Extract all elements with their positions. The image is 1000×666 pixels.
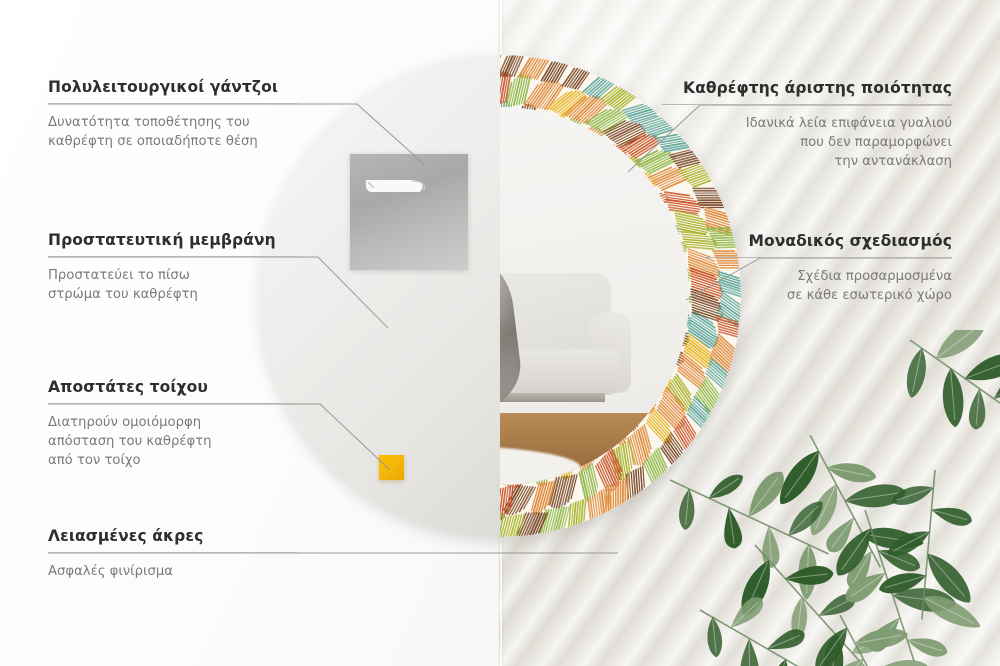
- eucalyptus-foliage: [660, 330, 1000, 666]
- callout-hooks-rule: [48, 103, 298, 104]
- wall-spacer-block: [379, 455, 404, 480]
- callout-unique-design: Μοναδικός σχεδιασμός Σχέδια προσαρμοσμέν…: [702, 232, 952, 305]
- callout-spacers: Αποστάτες τοίχου Διατηρούν ομοιόμορφη απ…: [48, 378, 298, 470]
- callout-unique-design-desc: Σχέδια προσαρμοσμένα σε κάθε εσωτερικό χ…: [702, 267, 952, 305]
- callout-quality-mirror: Καθρέφτης άριστης ποιότητας Ιδανικά λεία…: [662, 79, 952, 171]
- infographic-canvas: Πολυλειτουργικοί γάντζοι Δυνατότητα τοπο…: [0, 0, 1000, 666]
- callout-spacers-title: Αποστάτες τοίχου: [48, 378, 298, 396]
- callout-membrane-rule: [48, 256, 298, 257]
- callout-membrane-desc: Προστατεύει το πίσω στρώμα του καθρέφτη: [48, 266, 298, 304]
- callout-membrane: Προστατευτική μεμβράνη Προστατεύει το πί…: [48, 231, 298, 304]
- callout-hooks: Πολυλειτουργικοί γάντζοι Δυνατότητα τοπο…: [48, 78, 298, 151]
- hook-icon: [364, 176, 440, 198]
- sofa-base: [500, 393, 605, 402]
- callout-membrane-title: Προστατευτική μεμβράνη: [48, 231, 298, 249]
- callout-edges-title: Λειασμένες άκρες: [48, 527, 298, 545]
- callout-edges-rule: [48, 552, 298, 553]
- callout-edges-desc: Ασφαλές φινίρισμα: [48, 562, 298, 581]
- callout-hooks-desc: Δυνατότητα τοποθέτησης του καθρέφτη σε ο…: [48, 113, 298, 151]
- reflected-sofa: [500, 273, 631, 423]
- callout-unique-design-title: Μοναδικός σχεδιασμός: [702, 232, 952, 250]
- callout-spacers-rule: [48, 403, 298, 404]
- callout-edges: Λειασμένες άκρες Ασφαλές φινίρισμα: [48, 527, 298, 581]
- callout-quality-mirror-rule: [662, 104, 952, 105]
- callout-unique-design-rule: [702, 257, 952, 258]
- hook-mounting-plate: [350, 154, 468, 270]
- callout-spacers-desc: Διατηρούν ομοιόμορφη απόσταση του καθρέφ…: [48, 413, 298, 470]
- callout-quality-mirror-title: Καθρέφτης άριστης ποιότητας: [662, 79, 952, 97]
- callout-quality-mirror-desc: Ιδανικά λεία επιφάνεια γυαλιού που δεν π…: [662, 114, 952, 171]
- callout-hooks-title: Πολυλειτουργικοί γάντζοι: [48, 78, 298, 96]
